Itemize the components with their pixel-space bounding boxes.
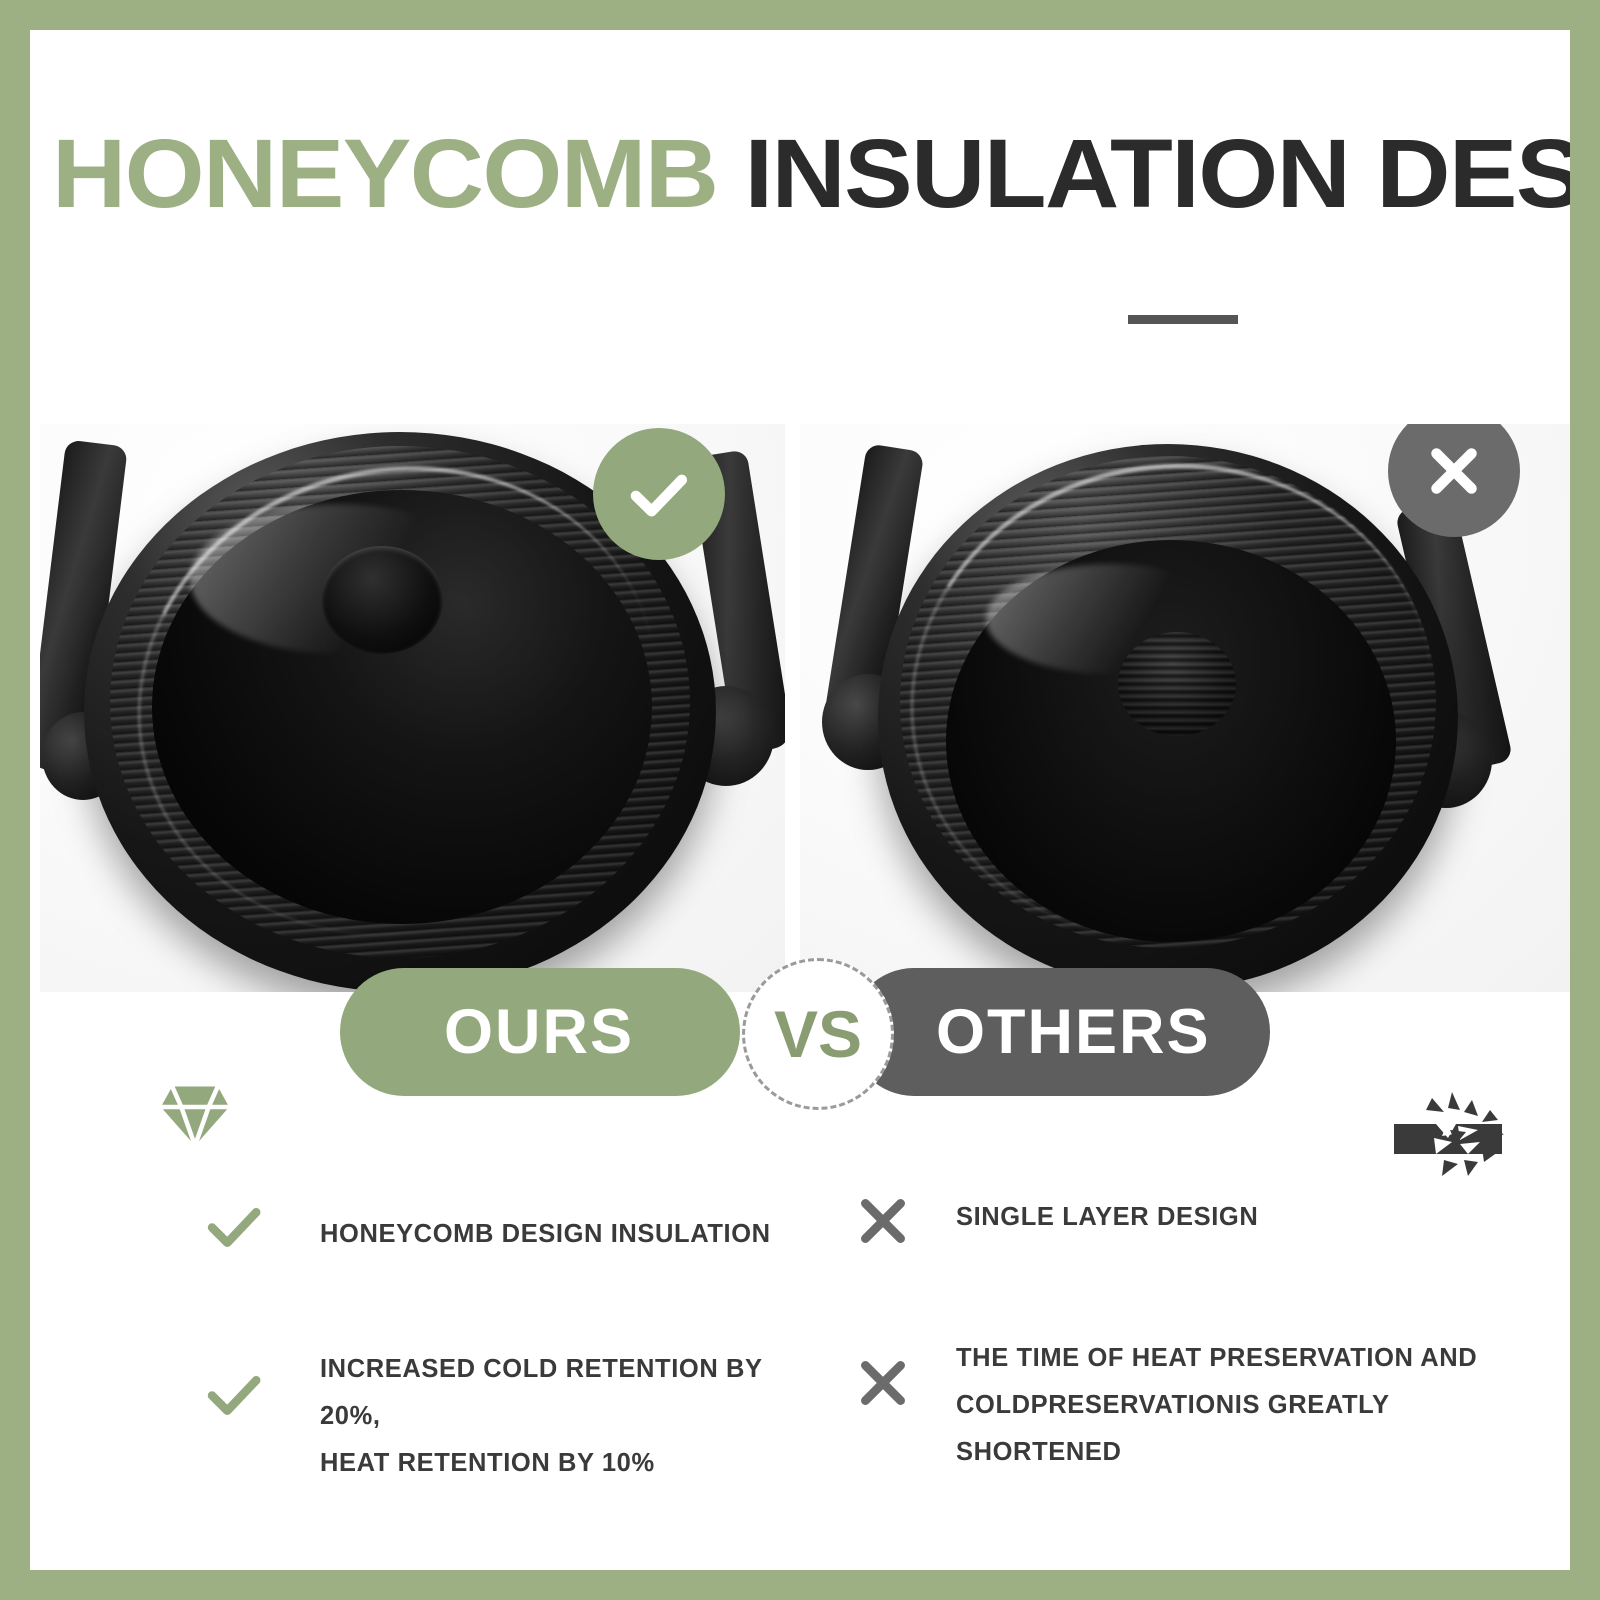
page-title: HONEYCOMB INSULATION DESIGN [52, 125, 1570, 222]
feature-text-ours-2: INCREASED COLD RETENTION BY 20%, HEAT RE… [320, 1346, 820, 1488]
feature-text-others-1: SINGLE LAYER DESIGN [956, 1194, 1426, 1241]
feature-mark-others-2 [852, 1352, 914, 1419]
feature-mark-ours-1 [198, 1196, 270, 1263]
cross-icon [852, 1190, 914, 1252]
check-icon [622, 457, 696, 531]
label-ours: OURS [340, 968, 740, 1096]
label-others: OTHERS [850, 968, 1270, 1096]
title-rest [717, 119, 744, 228]
check-icon [198, 1364, 270, 1426]
feature-mark-ours-2 [198, 1364, 270, 1431]
label-ours-text: OURS [444, 996, 634, 1068]
product-photo-ours [40, 424, 785, 992]
feature-text-others-2: THE TIME OF HEAT PRESERVATION AND COLDPR… [956, 1335, 1516, 1477]
pot-center-thread-column [1118, 632, 1236, 736]
cross-icon [1419, 436, 1489, 506]
poster-inner: HONEYCOMB INSULATION DESIGN [30, 30, 1570, 1570]
label-others-text: OTHERS [936, 996, 1211, 1068]
cross-icon [852, 1352, 914, 1414]
feature-mark-others-1 [852, 1190, 914, 1257]
versus-text: VS [774, 996, 862, 1072]
pot-lid-vent-hole [321, 546, 443, 654]
diamond-icon [158, 1082, 232, 1153]
shatter-icon [1386, 1086, 1518, 1187]
title-divider-rule [1128, 315, 1238, 324]
title-main: INSULATION DESIGN [744, 119, 1570, 228]
status-badge-check [593, 428, 725, 560]
title-highlight: HONEYCOMB [52, 119, 717, 228]
versus-badge: VS [742, 958, 894, 1110]
poster-frame: HONEYCOMB INSULATION DESIGN [0, 0, 1600, 1600]
feature-text-ours-1: HONEYCOMB DESIGN INSULATION [320, 1211, 790, 1258]
product-photo-others [800, 424, 1570, 992]
check-icon [198, 1196, 270, 1258]
